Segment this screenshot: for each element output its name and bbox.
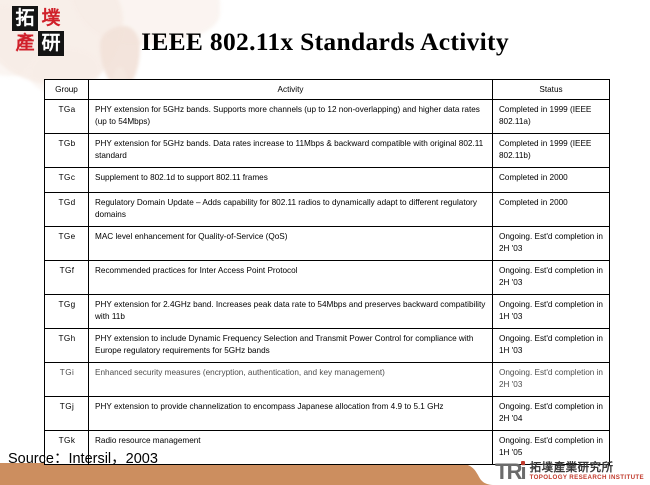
- cell-activity: PHY extension for 5GHz bands. Data rates…: [89, 134, 493, 168]
- cell-group: TGe: [45, 227, 89, 261]
- tri-chinese-name: 拓墣產業研究所: [530, 461, 614, 473]
- table-row: TGiEnhanced security measures (encryptio…: [45, 363, 610, 397]
- table-row: TGfRecommended practices for Inter Acces…: [45, 261, 610, 295]
- tri-name-block: 拓墣產業研究所 TOPOLOGY RESEARCH INSTITUTE: [530, 461, 644, 482]
- table-row: TGgPHY extension for 2.4GHz band. Increa…: [45, 295, 610, 329]
- cell-group: TGj: [45, 397, 89, 431]
- standards-table-wrapper: Group Activity Status TGaPHY extension f…: [44, 79, 609, 465]
- cell-group: TGa: [45, 100, 89, 134]
- cell-activity: PHY extension to include Dynamic Frequen…: [89, 329, 493, 363]
- cell-group: TGi: [45, 363, 89, 397]
- cell-activity: PHY extension for 2.4GHz band. Increases…: [89, 295, 493, 329]
- cell-status: Completed in 1999 (IEEE 802.11b): [493, 134, 610, 168]
- table-head: Group Activity Status: [45, 80, 610, 100]
- cell-activity: Regulatory Domain Update – Adds capabili…: [89, 193, 493, 227]
- cell-activity: Recommended practices for Inter Access P…: [89, 261, 493, 295]
- cell-group: TGg: [45, 295, 89, 329]
- cell-activity: PHY extension to provide channelization …: [89, 397, 493, 431]
- column-header-activity: Activity: [89, 80, 493, 100]
- cell-status: Ongoing. Est'd completion in 2H '03: [493, 227, 610, 261]
- cell-group: TGb: [45, 134, 89, 168]
- column-header-group: Group: [45, 80, 89, 100]
- cell-group: TGh: [45, 329, 89, 363]
- table-row: TGbPHY extension for 5GHz bands. Data ra…: [45, 134, 610, 168]
- table-row: TGjPHY extension to provide channelizati…: [45, 397, 610, 431]
- source-note: Source：Intersil，2003: [8, 447, 158, 468]
- column-header-status: Status: [493, 80, 610, 100]
- table-body: TGaPHY extension for 5GHz bands. Support…: [45, 100, 610, 465]
- footer-tri-logo: TRi 拓墣產業研究所 TOPOLOGY RESEARCH INSTITUTE: [495, 461, 644, 482]
- cell-group: TGf: [45, 261, 89, 295]
- cell-status: Completed in 2000: [493, 193, 610, 227]
- tri-english-name: TOPOLOGY RESEARCH INSTITUTE: [530, 474, 644, 482]
- standards-table: Group Activity Status TGaPHY extension f…: [44, 79, 610, 465]
- cell-status: Completed in 2000: [493, 168, 610, 193]
- table-header-row: Group Activity Status: [45, 80, 610, 100]
- cell-status: Ongoing. Est'd completion in 1H '03: [493, 329, 610, 363]
- cell-activity: Supplement to 802.1d to support 802.11 f…: [89, 168, 493, 193]
- cell-group: TGc: [45, 168, 89, 193]
- slide-canvas: 拓 墣 產 研 IEEE 802.11x Standards Activity …: [0, 0, 650, 485]
- tri-wordmark: TRi: [495, 462, 524, 482]
- tri-dot-icon: [521, 461, 525, 465]
- cell-group: TGd: [45, 193, 89, 227]
- cell-activity: Enhanced security measures (encryption, …: [89, 363, 493, 397]
- cell-status: Completed in 1999 (IEEE 802.11a): [493, 100, 610, 134]
- table-row: TGeMAC level enhancement for Quality-of-…: [45, 227, 610, 261]
- cell-activity: PHY extension for 5GHz bands. Supports m…: [89, 100, 493, 134]
- table-row: TGaPHY extension for 5GHz bands. Support…: [45, 100, 610, 134]
- cell-status: Ongoing. Est'd completion in 2H '04: [493, 397, 610, 431]
- cell-status: Ongoing. Est'd completion in 1H '03: [493, 295, 610, 329]
- table-row: TGdRegulatory Domain Update – Adds capab…: [45, 193, 610, 227]
- cell-activity: MAC level enhancement for Quality-of-Ser…: [89, 227, 493, 261]
- table-row: TGhPHY extension to include Dynamic Freq…: [45, 329, 610, 363]
- slide-title: IEEE 802.11x Standards Activity: [0, 27, 650, 57]
- cell-status: Ongoing. Est'd completion in 2H '03: [493, 261, 610, 295]
- cell-status: Ongoing. Est'd completion in 2H '03: [493, 363, 610, 397]
- table-row: TGcSupplement to 802.1d to support 802.1…: [45, 168, 610, 193]
